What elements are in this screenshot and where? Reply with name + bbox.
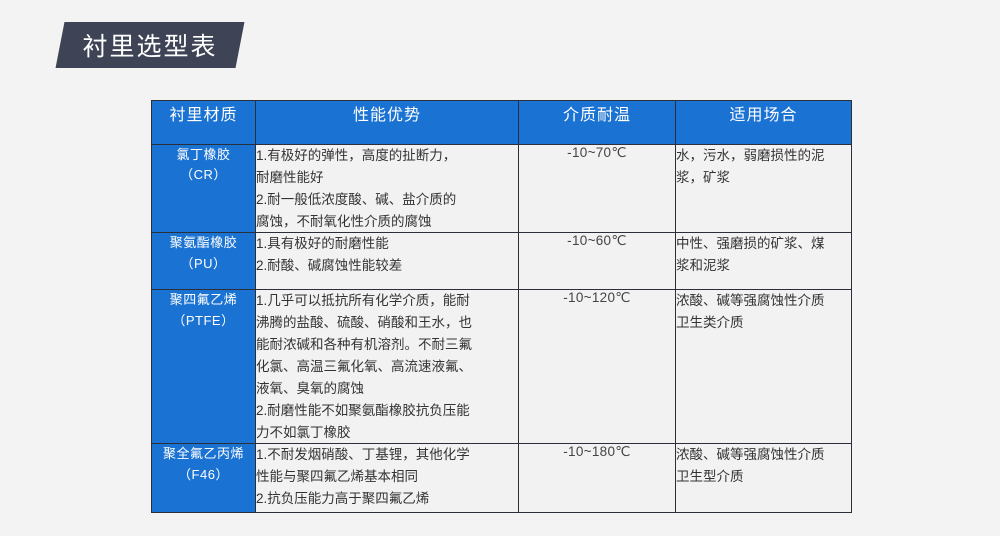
performance-line: 2.耐一般低浓度酸、碱、盐介质的 bbox=[256, 189, 518, 211]
performance-line: 1.具有极好的耐磨性能 bbox=[256, 233, 518, 255]
material-name: 聚四氟乙烯 bbox=[152, 290, 255, 310]
performance-line: 性能与聚四氟乙烯基本相同 bbox=[256, 466, 518, 488]
performance-line: 2.抗负压能力高于聚四氟乙烯 bbox=[256, 488, 518, 510]
cell-performance: 1.几乎可以抵抗所有化学介质，能耐 沸腾的盐酸、硫酸、硝酸和王水，也 能耐浓碱和… bbox=[256, 290, 519, 444]
usage-line: 水，污水，弱磨损性的泥 bbox=[676, 145, 851, 167]
cell-temperature: -10~180℃ bbox=[519, 444, 676, 513]
performance-line: 沸腾的盐酸、硫酸、硝酸和王水，也 bbox=[256, 312, 518, 334]
usage-line: 浓酸、碱等强腐蚀性介质 bbox=[676, 444, 851, 466]
cell-temperature: -10~120℃ bbox=[519, 290, 676, 444]
material-abbreviation: （F46） bbox=[152, 465, 255, 485]
performance-line: 液氧、臭氧的腐蚀 bbox=[256, 378, 518, 400]
cell-material: 聚四氟乙烯 （PTFE） bbox=[152, 290, 256, 444]
column-header-temperature: 介质耐温 bbox=[519, 101, 676, 145]
material-abbreviation: （CR） bbox=[152, 165, 255, 185]
material-name: 聚全氟乙丙烯 bbox=[152, 444, 255, 464]
performance-line: 耐磨性能好 bbox=[256, 167, 518, 189]
performance-line: 1.不耐发烟硝酸、丁基锂，其他化学 bbox=[256, 444, 518, 466]
material-name: 聚氨酯橡胶 bbox=[152, 233, 255, 253]
cell-usage: 浓酸、碱等强腐蚀性介质 卫生型介质 bbox=[676, 444, 852, 513]
material-name: 氯丁橡胶 bbox=[152, 145, 255, 165]
cell-material: 聚全氟乙丙烯 （F46） bbox=[152, 444, 256, 513]
page-title: 衬里选型表 bbox=[60, 22, 240, 68]
page-title-banner: 衬里选型表 bbox=[60, 22, 240, 68]
cell-performance: 1.有极好的弹性，高度的扯断力， 耐磨性能好 2.耐一般低浓度酸、碱、盐介质的 … bbox=[256, 145, 519, 233]
column-header-usage: 适用场合 bbox=[676, 101, 852, 145]
usage-line: 中性、强磨损的矿浆、煤 bbox=[676, 233, 851, 255]
lining-selection-table: 衬里材质 性能优势 介质耐温 适用场合 氯丁橡胶 （CR） 1.有极好的弹性，高… bbox=[151, 100, 852, 513]
performance-line: 能耐浓碱和各种有机溶剂。不耐三氟 bbox=[256, 334, 518, 356]
material-abbreviation: （PU） bbox=[152, 254, 255, 274]
usage-line: 卫生型介质 bbox=[676, 466, 851, 488]
cell-usage: 浓酸、碱等强腐蚀性介质 卫生类介质 bbox=[676, 290, 852, 444]
table-row: 聚四氟乙烯 （PTFE） 1.几乎可以抵抗所有化学介质，能耐 沸腾的盐酸、硫酸、… bbox=[152, 290, 852, 444]
table-row: 聚全氟乙丙烯 （F46） 1.不耐发烟硝酸、丁基锂，其他化学 性能与聚四氟乙烯基… bbox=[152, 444, 852, 513]
cell-material: 氯丁橡胶 （CR） bbox=[152, 145, 256, 233]
performance-line: 2.耐磨性能不如聚氨酯橡胶抗负压能 bbox=[256, 400, 518, 422]
table-row: 聚氨酯橡胶 （PU） 1.具有极好的耐磨性能 2.耐酸、碱腐蚀性能较差 -10~… bbox=[152, 233, 852, 290]
performance-line: 1.有极好的弹性，高度的扯断力， bbox=[256, 145, 518, 167]
cell-performance: 1.不耐发烟硝酸、丁基锂，其他化学 性能与聚四氟乙烯基本相同 2.抗负压能力高于… bbox=[256, 444, 519, 513]
usage-line: 卫生类介质 bbox=[676, 312, 851, 334]
cell-temperature: -10~60℃ bbox=[519, 233, 676, 290]
table-row: 氯丁橡胶 （CR） 1.有极好的弹性，高度的扯断力， 耐磨性能好 2.耐一般低浓… bbox=[152, 145, 852, 233]
usage-line: 浆和泥浆 bbox=[676, 255, 851, 277]
usage-line: 浆，矿浆 bbox=[676, 167, 851, 189]
material-abbreviation: （PTFE） bbox=[152, 311, 255, 331]
table-header-row: 衬里材质 性能优势 介质耐温 适用场合 bbox=[152, 101, 852, 145]
performance-line: 化氯、高温三氟化氧、高流速液氟、 bbox=[256, 356, 518, 378]
performance-line: 1.几乎可以抵抗所有化学介质，能耐 bbox=[256, 290, 518, 312]
cell-performance: 1.具有极好的耐磨性能 2.耐酸、碱腐蚀性能较差 bbox=[256, 233, 519, 290]
cell-usage: 水，污水，弱磨损性的泥 浆，矿浆 bbox=[676, 145, 852, 233]
column-header-performance: 性能优势 bbox=[256, 101, 519, 145]
performance-line: 腐蚀，不耐氧化性介质的腐蚀 bbox=[256, 211, 518, 233]
cell-usage: 中性、强磨损的矿浆、煤 浆和泥浆 bbox=[676, 233, 852, 290]
performance-line: 力不如氯丁橡胶 bbox=[256, 422, 518, 444]
cell-material: 聚氨酯橡胶 （PU） bbox=[152, 233, 256, 290]
cell-temperature: -10~70℃ bbox=[519, 145, 676, 233]
column-header-material: 衬里材质 bbox=[152, 101, 256, 145]
performance-line: 2.耐酸、碱腐蚀性能较差 bbox=[256, 255, 518, 277]
usage-line: 浓酸、碱等强腐蚀性介质 bbox=[676, 290, 851, 312]
